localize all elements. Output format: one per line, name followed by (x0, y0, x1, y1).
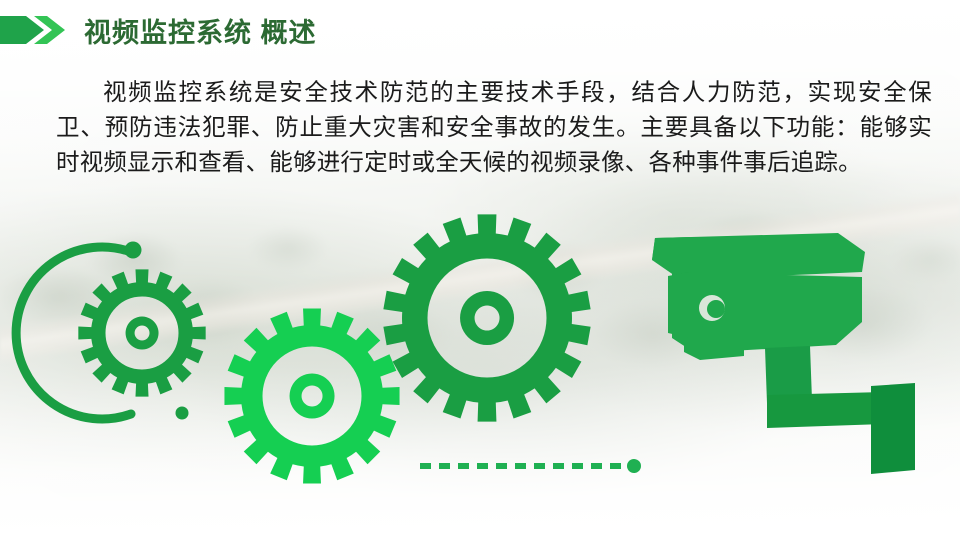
cctv-camera-icon (652, 233, 915, 474)
gear-medium-icon (224, 308, 399, 483)
slide-canvas: 视频监控系统 概述 视频监控系统是安全技术防范的主要技术手段，结合人力防范，实现… (0, 0, 960, 540)
gear-small-icon (78, 269, 205, 396)
illustration-layer (0, 0, 960, 540)
gear-large-icon (383, 214, 590, 421)
dashed-line-with-dot-icon (420, 459, 641, 473)
